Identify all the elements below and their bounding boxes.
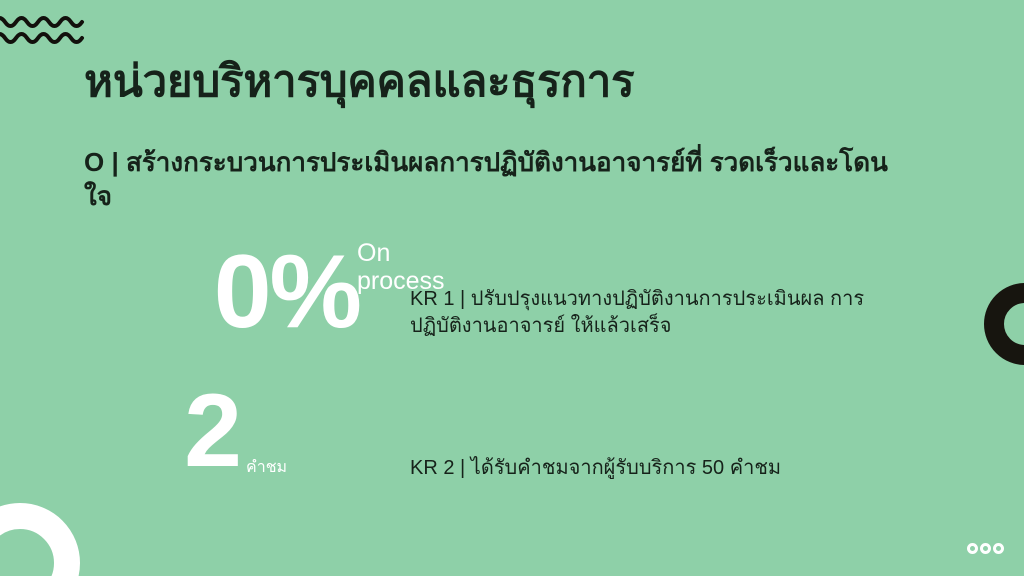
- dot-3-icon: [993, 543, 1004, 554]
- white-ring-icon: [0, 503, 80, 576]
- kr1-metric-value: 0%: [120, 243, 360, 342]
- kr2-metric-unit: คำชม: [246, 460, 287, 476]
- dots-decoration: [967, 543, 1004, 554]
- objective-line-1: O | สร้างกระบวนการประเมินผลการปฏิบัติงาน…: [84, 147, 702, 177]
- kr1-description: KR 1 | ปรับปรุงแนวทางปฏิบัติงานการประเมิ…: [410, 286, 910, 340]
- kr2-metric-value: 2: [120, 382, 240, 481]
- kr1-description-line-1: KR 1 | ปรับปรุงแนวทางปฏิบัติงานการประเมิ…: [410, 288, 824, 310]
- kr2-description: KR 2 | ได้รับคำชมจากผู้รับบริการ 50 คำชม: [410, 455, 930, 482]
- dark-ring-icon: [984, 283, 1024, 365]
- wavy-lines-icon: [0, 12, 86, 52]
- page-title: หน่วยบริหารบุคคลและธุรการ: [84, 57, 634, 106]
- dot-1-icon: [967, 543, 978, 554]
- objective-statement: O | สร้างกระบวนการประเมินผลการปฏิบัติงาน…: [84, 145, 904, 214]
- dot-2-icon: [980, 543, 991, 554]
- kr2-description-line-1: KR 2 | ได้รับคำชมจากผู้รับบริการ 50 คำชม: [410, 457, 781, 479]
- slide-canvas: หน่วยบริหารบุคคลและธุรการ O | สร้างกระบว…: [0, 0, 1024, 576]
